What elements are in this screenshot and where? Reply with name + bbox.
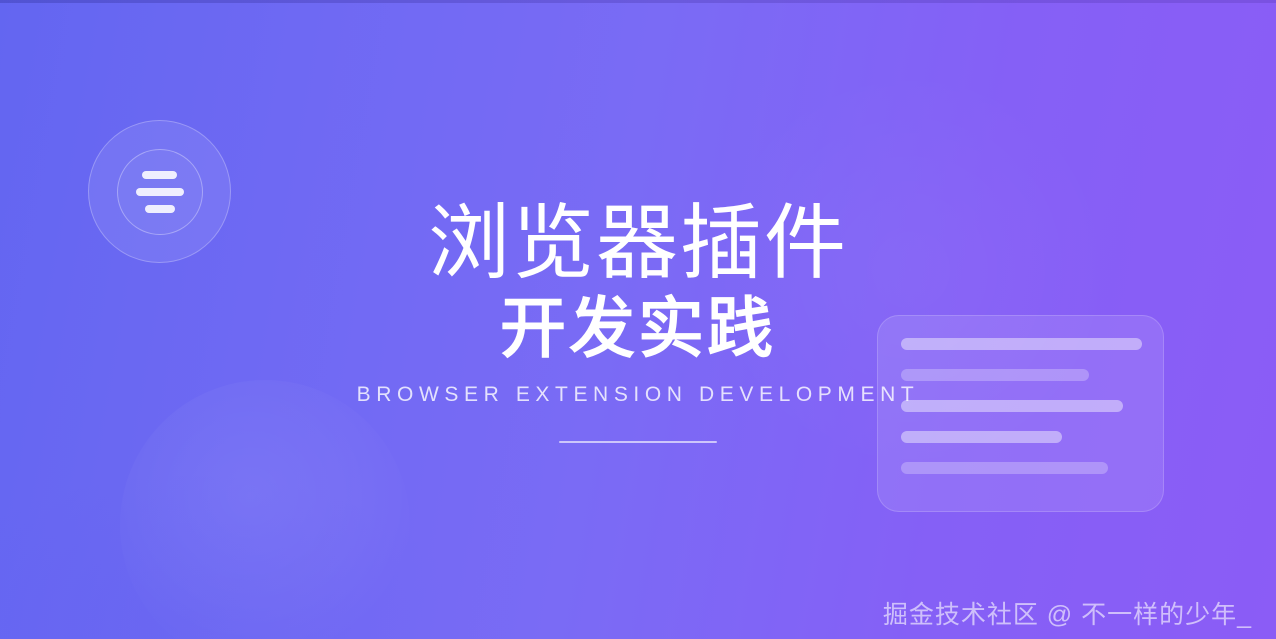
doc-card-line xyxy=(901,369,1089,381)
doc-card-line xyxy=(901,462,1108,474)
emblem-inner-ring xyxy=(117,149,203,235)
decorative-glow-lower-left xyxy=(120,380,410,639)
doc-card-line xyxy=(901,431,1062,443)
top-edge-strip xyxy=(0,0,1276,3)
subtitle-english: BROWSER EXTENSION DEVELOPMENT xyxy=(357,383,920,407)
menu-lines-badge-icon xyxy=(88,120,231,263)
emblem-bar-middle xyxy=(136,188,184,196)
headline-divider xyxy=(559,441,717,443)
title-line-2: 开发实践 xyxy=(500,295,776,361)
doc-card-line xyxy=(901,338,1142,350)
document-placeholder-card xyxy=(877,315,1164,512)
watermark-credit: 掘金技术社区 @ 不一样的少年_ xyxy=(883,595,1252,631)
decorative-wash-bottom xyxy=(0,470,470,639)
doc-card-line xyxy=(901,400,1123,412)
emblem-bar-bottom xyxy=(145,205,175,213)
promo-banner: 浏览器插件 开发实践 BROWSER EXTENSION DEVELOPMENT… xyxy=(0,0,1276,639)
title-line-1: 浏览器插件 xyxy=(428,203,848,285)
emblem-bar-top xyxy=(142,171,177,179)
